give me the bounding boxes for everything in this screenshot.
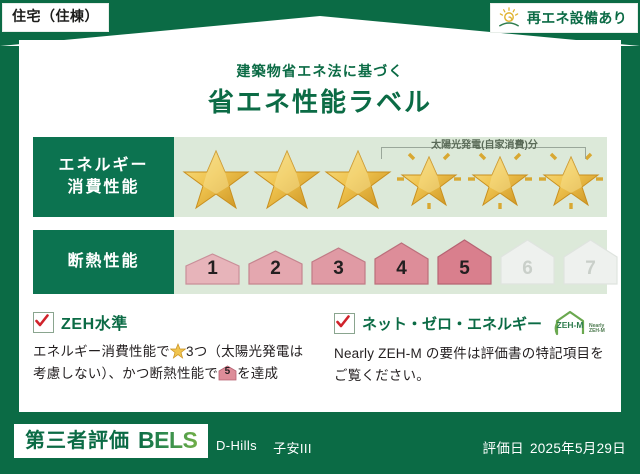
building-name-unit: 子安III [273, 438, 312, 457]
zeh-note-header: ZEH水準 [33, 310, 310, 334]
nzeb-note-header: ネット・ゼロ・エネルギー ZEH-M Nearly ZEH-M [334, 310, 607, 336]
label-body-panel: 建築物省エネ法に基づく 省エネ性能ラベル エネルギー 消費性能 [19, 40, 621, 412]
evaluation-date-value: 2025年5月29日 [530, 437, 626, 457]
solar-caption: 太陽光発電(自家消費)分 [382, 136, 587, 151]
zeh-note: ZEH水準 エネルギー消費性能で3つ（太陽光発電は考慮しない）、かつ断熱性能で5… [33, 310, 320, 402]
insulation-level-value: 7 [560, 258, 621, 280]
energy-performance-label-block: エネルギー 消費性能 [33, 137, 174, 217]
star-icon [253, 141, 321, 213]
insulation-performance-row: 断熱性能 1 2 3 [33, 230, 607, 294]
label-title: 省エネ性能ラベル [19, 82, 621, 119]
insulation-level-value: 4 [371, 258, 432, 280]
sun-icon [497, 7, 521, 29]
star-icon [182, 141, 250, 213]
insulation-level-badge: 5 [434, 238, 495, 286]
checkbox-checked-icon [33, 312, 54, 333]
insulation-badge-inline-value: 5 [218, 367, 237, 377]
insulation-level-value: 6 [497, 258, 558, 280]
energy-performance-row: エネルギー 消費性能 [33, 137, 607, 217]
zeh-m-logo-subtext: Nearly ZEH-M [589, 324, 605, 337]
solar-bracket: 太陽光発電(自家消費)分 [381, 147, 586, 159]
bels-badge-en: BELS [138, 429, 197, 452]
label-subtitle: 建築物省エネ法に基づく [19, 61, 621, 81]
evaluation-date-label: 評価日 [483, 437, 524, 457]
renewable-equipment-text: 再エネ設備あり [527, 11, 627, 25]
energy-performance-label: 住宅（住棟） 再エネ設備あり 建築物省エネ法に基づく 省エネ性能ラベル エネルギ… [0, 0, 640, 474]
building-name: D-Hills 子安III [216, 438, 312, 457]
nzeb-note: ネット・ゼロ・エネルギー ZEH-M Nearly ZEH-M Nearl [320, 310, 607, 402]
renewable-equipment-tag: 再エネ設備あり [490, 3, 638, 33]
insulation-level-badge: 1 [182, 252, 243, 286]
insulation-level-badge-inactive: 6 [497, 238, 558, 286]
insulation-level-value: 1 [182, 258, 243, 280]
evaluation-date: 評価日 2025年5月29日 [483, 437, 626, 457]
zeh-m-sub-line2: ZEH-M [589, 328, 605, 334]
insulation-level-value: 5 [434, 258, 495, 280]
checkbox-checked-icon [334, 313, 355, 334]
notes-area: ZEH水準 エネルギー消費性能で3つ（太陽光発電は考慮しない）、かつ断熱性能で5… [33, 310, 607, 402]
insulation-levels-area: 1 2 3 4 [174, 230, 607, 294]
insulation-badge-inline: 5 [218, 365, 237, 381]
energy-label-line2: 消費性能 [67, 177, 139, 199]
zeh-m-logo: ZEH-M Nearly ZEH-M [553, 310, 605, 336]
insulation-label-block: 断熱性能 [33, 230, 174, 294]
zeh-body-part3: を達成 [237, 366, 278, 381]
insulation-level-badge: 4 [371, 241, 432, 286]
insulation-level-value: 3 [308, 258, 369, 280]
building-type-text: 住宅（住棟） [12, 8, 99, 24]
nzeb-note-body: Nearly ZEH-M の要件は評価書の特記項目をご覧ください。 [334, 343, 607, 386]
bels-badge: 第三者評価 BELS [14, 424, 208, 458]
insulation-label-text: 断熱性能 [67, 251, 139, 273]
zeh-note-body: エネルギー消費性能で3つ（太陽光発電は考慮しない）、かつ断熱性能で5を達成 [33, 341, 310, 384]
zeh-note-title: ZEH水準 [61, 310, 128, 334]
footer-bar: 第三者評価 BELS D-Hills 子安III 評価日 2025年5月29日 [0, 412, 640, 474]
energy-label-line1: エネルギー [58, 155, 148, 177]
house-icon: ZEH-M [553, 310, 587, 336]
svg-text:ZEH-M: ZEH-M [557, 320, 584, 330]
insulation-level-value: 2 [245, 258, 306, 280]
building-name-main: D-Hills [216, 438, 257, 457]
nzeb-note-title: ネット・ゼロ・エネルギー [362, 313, 542, 334]
star-icon-inline [170, 343, 186, 359]
insulation-level-badge-inactive: 7 [560, 238, 621, 286]
bels-badge-jp: 第三者評価 [25, 431, 130, 451]
insulation-level-badge: 2 [245, 249, 306, 286]
energy-performance-stars-area: 太陽光発電(自家消費)分 [174, 137, 607, 217]
zeh-body-part1: エネルギー消費性能で [33, 344, 170, 359]
building-type-tag: 住宅（住棟） [2, 3, 109, 32]
insulation-level-badge: 3 [308, 246, 369, 286]
insulation-level-scale: 1 2 3 4 [174, 230, 607, 294]
